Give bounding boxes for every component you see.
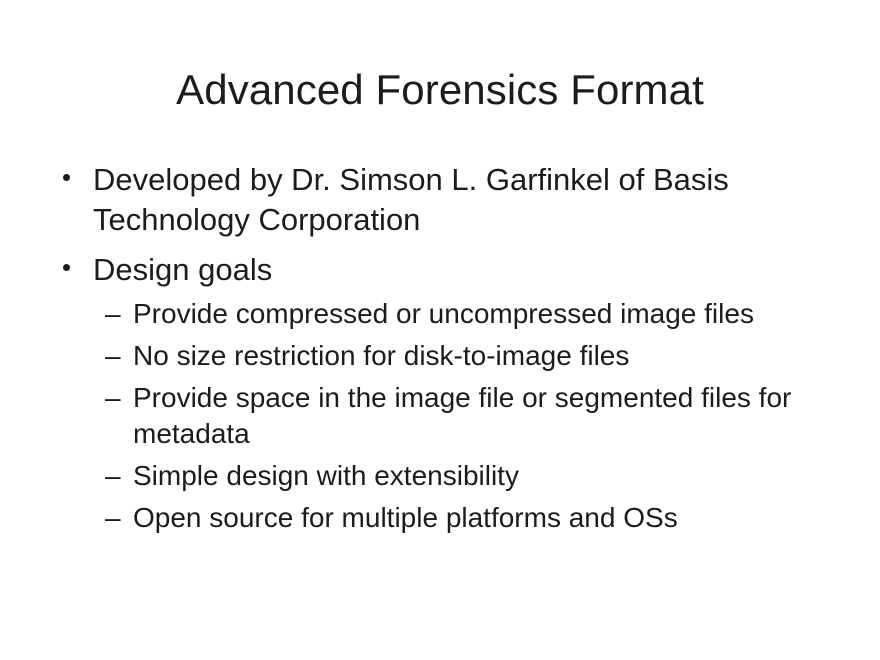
- bullet-item-1-label: Developed by Dr. Simson L. Garfinkel of …: [93, 162, 729, 237]
- bullet-item-1: Developed by Dr. Simson L. Garfinkel of …: [54, 160, 793, 240]
- sub-bullet-item-1: – Provide compressed or uncompressed ima…: [54, 296, 844, 332]
- sub-bullet-item-2-label: No size restriction for disk-to-image fi…: [133, 340, 629, 371]
- en-dash-icon: –: [105, 458, 121, 494]
- page-title: Advanced Forensics Format: [0, 64, 880, 116]
- design-goals-sublist: – Provide compressed or uncompressed ima…: [54, 296, 844, 536]
- sub-bullet-item-4-label: Simple design with extensibility: [133, 460, 519, 491]
- sub-bullet-item-5-label: Open source for multiple platforms and O…: [133, 502, 678, 533]
- presentation-slide: Advanced Forensics Format Developed by D…: [0, 0, 880, 660]
- sub-bullet-item-3: – Provide space in the image file or seg…: [54, 380, 844, 452]
- sub-bullet-item-4: – Simple design with extensibility: [54, 458, 844, 494]
- en-dash-icon: –: [105, 338, 121, 374]
- sub-bullet-item-2: – No size restriction for disk-to-image …: [54, 338, 844, 374]
- sub-bullet-item-3-label: Provide space in the image file or segme…: [133, 382, 791, 449]
- en-dash-icon: –: [105, 296, 121, 332]
- en-dash-icon: –: [105, 380, 121, 416]
- slide-body: Developed by Dr. Simson L. Garfinkel of …: [54, 160, 844, 542]
- bullet-dot-icon: [63, 160, 83, 200]
- bullet-item-2: Design goals: [54, 250, 793, 290]
- bullet-dot-icon: [63, 250, 83, 290]
- bullet-item-2-label: Design goals: [93, 252, 272, 287]
- en-dash-icon: –: [105, 500, 121, 536]
- sub-bullet-item-5: – Open source for multiple platforms and…: [54, 500, 844, 536]
- sub-bullet-item-1-label: Provide compressed or uncompressed image…: [133, 298, 754, 329]
